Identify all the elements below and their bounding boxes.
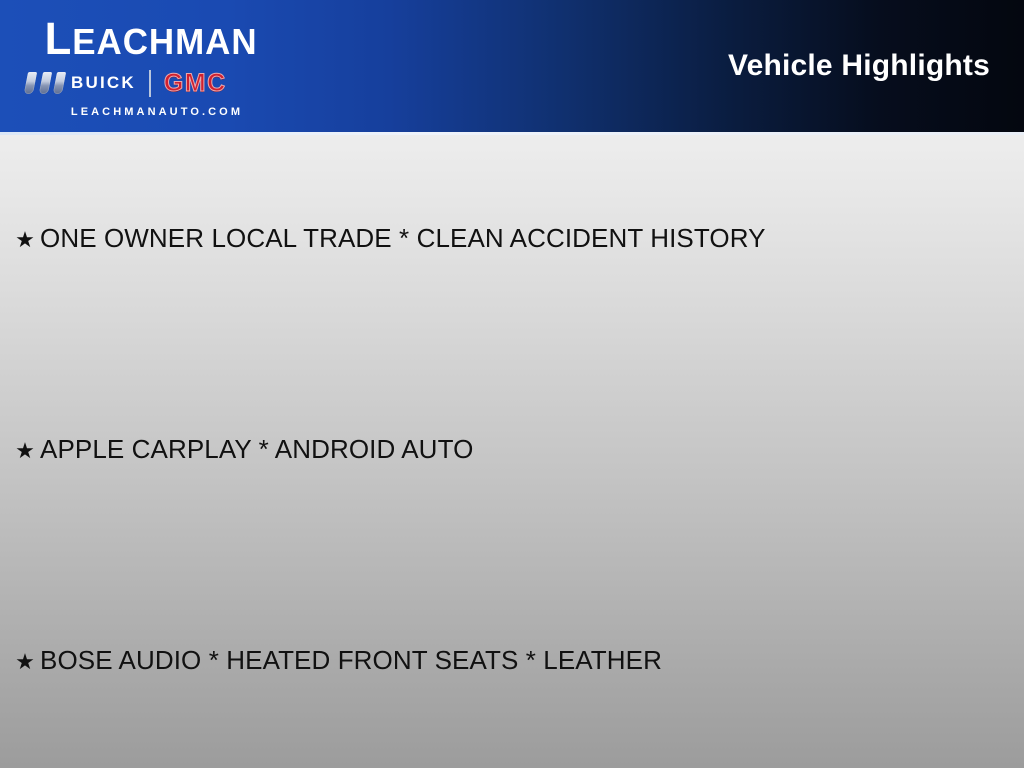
dealer-name-lead-letter: L [45,13,73,64]
highlight-text: APPLE CARPLAY * ANDROID AUTO [40,434,473,464]
dealer-name-wordmark: LEACHMAN [24,16,278,62]
highlight-text: BOSE AUDIO * HEATED FRONT SEATS * LEATHE… [40,645,662,675]
list-item: ★ BOSE AUDIO * HEATED FRONT SEATS * LEAT… [10,645,662,677]
dealer-website-url[interactable]: LEACHMANAUTO.COM [26,105,288,119]
brand-row: BUICK GMC [26,68,288,98]
star-bullet-icon: ★ [10,647,40,677]
shield-1-icon [24,72,37,94]
dealer-name-rest: EACHMAN [72,21,257,62]
highlight-text: ONE OWNER LOCAL TRADE * CLEAN ACCIDENT H… [40,223,766,253]
shield-3-icon [53,72,66,94]
brand-divider [149,70,151,97]
highlights-list: ★ ONE OWNER LOCAL TRADE * CLEAN ACCIDENT… [0,135,1024,768]
star-bullet-icon: ★ [10,225,40,255]
star-bullet-icon: ★ [10,436,40,466]
buick-wordmark: BUICK [71,73,136,93]
vehicle-highlights-slide: LEACHMAN BUICK GMC LEACHMANAUTO.COM Vehi… [0,0,1024,768]
dealer-logo[interactable]: LEACHMAN BUICK GMC LEACHMANAUTO.COM [10,8,295,126]
content-area: ★ ONE OWNER LOCAL TRADE * CLEAN ACCIDENT… [0,135,1024,768]
header-bar: LEACHMAN BUICK GMC LEACHMANAUTO.COM Vehi… [0,0,1024,132]
shield-2-icon [38,72,51,94]
page-title: Vehicle Highlights [728,48,990,84]
list-item: ★ ONE OWNER LOCAL TRADE * CLEAN ACCIDENT… [10,223,766,255]
list-item: ★ APPLE CARPLAY * ANDROID AUTO [10,434,473,466]
gmc-wordmark: GMC [164,69,227,97]
buick-tri-shield-icon [26,71,64,95]
